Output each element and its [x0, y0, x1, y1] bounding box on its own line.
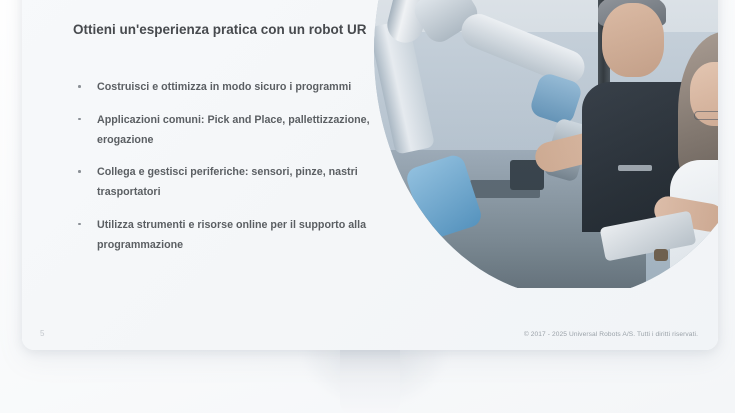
presentation-slide: Obiettivi Del Corso Ottieni un'esperienz… — [22, 0, 718, 350]
list-item: Collega e gestisci periferiche: sensori,… — [73, 163, 378, 203]
list-item: Utilizza strumenti e risorse online per … — [73, 216, 378, 256]
monitor-stand — [340, 346, 400, 413]
photo-bench-part-dark — [510, 160, 544, 190]
bullet-dot-icon — [78, 118, 81, 121]
photo-scene — [374, 0, 718, 288]
robot-tool-flange — [543, 117, 592, 182]
copyright-notice: © 2017 - 2025 Universal Robots A/S. Tutt… — [524, 331, 698, 338]
man-arm — [532, 117, 656, 175]
bullet-text: Applicazioni comuni: Pick and Place, pal… — [97, 114, 370, 146]
page-number: 5 — [40, 329, 44, 338]
bullet-list: Costruisci e ottimizza in modo sicuro i … — [73, 78, 378, 269]
woman-face — [690, 62, 718, 126]
woman-glasses — [694, 111, 718, 120]
woman-hair — [678, 32, 718, 192]
woman-watch — [654, 249, 668, 261]
man-head — [602, 3, 664, 77]
slide-subtitle: Ottieni un'esperienza pratica con un rob… — [73, 18, 373, 42]
robot-wrist-joint — [528, 71, 583, 126]
robot-upper-link — [384, 0, 465, 47]
robot-elbow-joint — [410, 0, 483, 47]
list-item: Costruisci e ottimizza in modo sicuro i … — [73, 78, 378, 98]
bullet-text: Costruisci e ottimizza in modo sicuro i … — [97, 81, 351, 93]
man-shirt-logo — [618, 165, 652, 171]
photo-color-tint — [374, 0, 718, 288]
bullet-dot-icon — [78, 85, 81, 88]
woman-arm — [652, 194, 718, 234]
list-item: Applicazioni comuni: Pick and Place, pal… — [73, 111, 378, 151]
robot-blue-fixture — [404, 153, 484, 242]
slide-photo — [362, 0, 718, 288]
screenshot-root: Obiettivi Del Corso Ottieni un'esperienz… — [0, 0, 735, 413]
man-hair — [598, 0, 666, 27]
photo-wall-upper — [374, 0, 718, 32]
photo-bench-part-rail — [470, 180, 540, 198]
photo-wall-lower — [374, 32, 718, 288]
photo-workbench — [374, 150, 646, 288]
man-torso — [582, 82, 712, 232]
photo-circle-mask — [374, 0, 718, 288]
monitor-frame: Obiettivi Del Corso Ottieni un'esperienz… — [22, 0, 718, 350]
bullet-text: Collega e gestisci periferiche: sensori,… — [97, 166, 358, 198]
photo-bench-part-blue — [430, 165, 456, 187]
bullet-dot-icon — [78, 223, 81, 226]
robot-forearm-link — [456, 9, 589, 89]
woman-shirt — [670, 160, 718, 270]
robot-base-segment — [374, 20, 435, 155]
photo-structural-beam — [598, 0, 610, 91]
woman-tablet — [600, 211, 697, 262]
bullet-text: Utilizza strumenti e risorse online per … — [97, 219, 366, 251]
bullet-dot-icon — [78, 170, 81, 173]
